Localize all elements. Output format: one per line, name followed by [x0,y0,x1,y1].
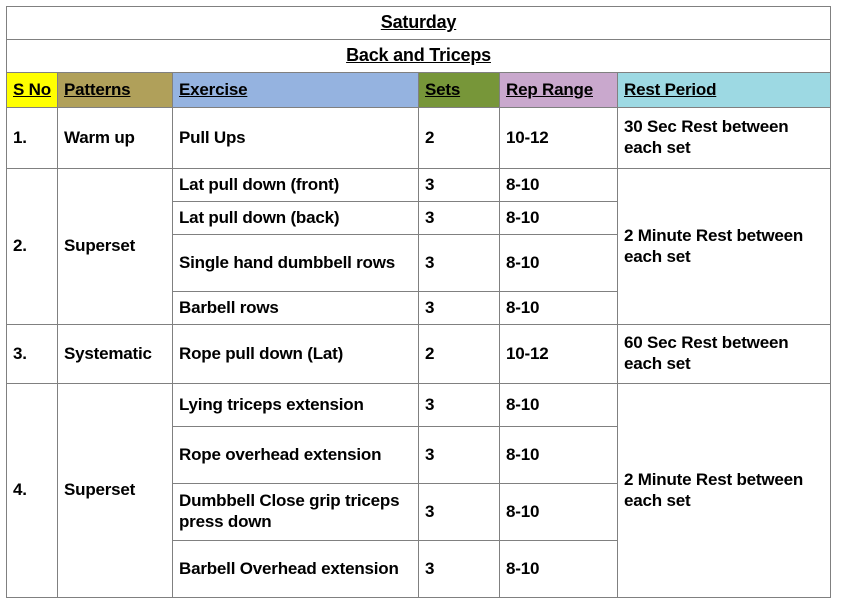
cell-sets: 3 [419,541,500,598]
cell-pattern: Superset [58,384,173,598]
column-header-patterns: Patterns [58,73,173,108]
cell-rep-range: 8-10 [500,169,618,202]
cell-rep-range: 10-12 [500,325,618,384]
cell-sets: 3 [419,202,500,235]
cell-rep-range: 8-10 [500,292,618,325]
table-header-row: S No Patterns Exercise Sets Rep Range Re… [7,73,831,108]
cell-sets: 2 [419,325,500,384]
day-title-row: Saturday [7,7,831,40]
cell-exercise: Lat pull down (front) [173,169,419,202]
cell-rep-range: 8-10 [500,541,618,598]
cell-sets: 3 [419,292,500,325]
column-header-s-no: S No [7,73,58,108]
cell-exercise: Barbell rows [173,292,419,325]
cell-sets: 2 [419,108,500,169]
column-header-sets: Sets [419,73,500,108]
column-header-patterns-label: Patterns [64,80,130,99]
column-header-sets-label: Sets [425,80,460,99]
cell-rep-range: 8-10 [500,484,618,541]
cell-exercise: Dumbbell Close grip triceps press down [173,484,419,541]
table-row: 4. Superset Lying triceps extension 3 8-… [7,384,831,427]
day-title-cell: Saturday [7,7,831,40]
muscle-group-title-row: Back and Triceps [7,40,831,73]
cell-rest-period: 2 Minute Rest between each set [618,384,831,598]
cell-pattern: Warm up [58,108,173,169]
muscle-group-title: Back and Triceps [346,45,491,65]
muscle-group-title-cell: Back and Triceps [7,40,831,73]
column-header-exercise-label: Exercise [179,80,247,99]
cell-rep-range: 8-10 [500,202,618,235]
cell-pattern: Superset [58,169,173,325]
column-header-rep-range: Rep Range [500,73,618,108]
cell-rest-period: 2 Minute Rest between each set [618,169,831,325]
cell-exercise: Rope overhead extension [173,427,419,484]
cell-sets: 3 [419,384,500,427]
cell-exercise: Lat pull down (back) [173,202,419,235]
cell-rep-range: 10-12 [500,108,618,169]
workout-sheet: Saturday Back and Triceps S No Patterns … [6,6,830,598]
cell-sets: 3 [419,427,500,484]
table-row: 2. Superset Lat pull down (front) 3 8-10… [7,169,831,202]
table-row: 1. Warm up Pull Ups 2 10-12 30 Sec Rest … [7,108,831,169]
cell-s-no: 4. [7,384,58,598]
table-row: 3. Systematic Rope pull down (Lat) 2 10-… [7,325,831,384]
cell-rep-range: 8-10 [500,384,618,427]
column-header-s-no-label: S No [13,80,51,99]
column-header-rep-range-label: Rep Range [506,80,593,99]
workout-table: Saturday Back and Triceps S No Patterns … [6,6,831,598]
cell-sets: 3 [419,235,500,292]
cell-s-no: 3. [7,325,58,384]
cell-s-no: 2. [7,169,58,325]
cell-sets: 3 [419,484,500,541]
cell-rep-range: 8-10 [500,235,618,292]
cell-exercise: Single hand dumbbell rows [173,235,419,292]
day-title: Saturday [381,12,456,32]
cell-exercise: Pull Ups [173,108,419,169]
cell-rest-period: 30 Sec Rest between each set [618,108,831,169]
column-header-rest-period-label: Rest Period [624,80,716,99]
cell-exercise: Rope pull down (Lat) [173,325,419,384]
cell-rep-range: 8-10 [500,427,618,484]
cell-exercise: Lying triceps extension [173,384,419,427]
cell-rest-period: 60 Sec Rest between each set [618,325,831,384]
cell-pattern: Systematic [58,325,173,384]
column-header-rest-period: Rest Period [618,73,831,108]
cell-s-no: 1. [7,108,58,169]
cell-sets: 3 [419,169,500,202]
column-header-exercise: Exercise [173,73,419,108]
cell-exercise: Barbell Overhead extension [173,541,419,598]
